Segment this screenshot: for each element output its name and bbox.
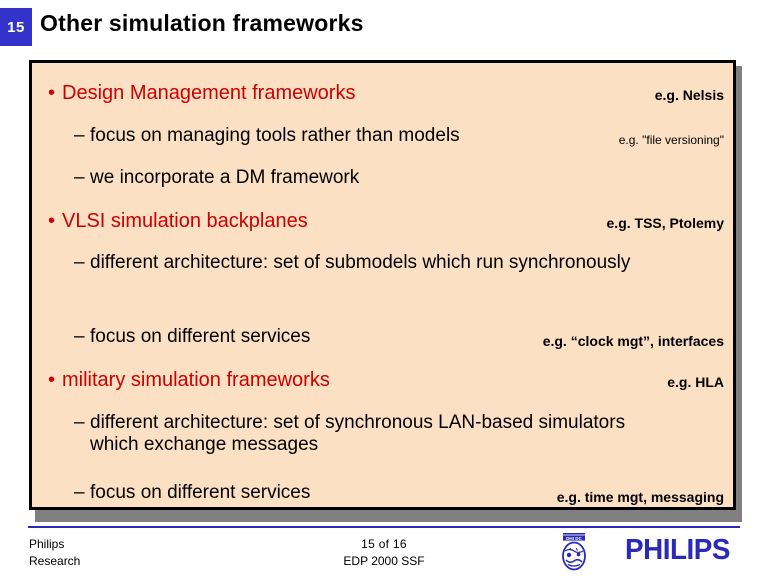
sub-item-label: focus on different services [90,482,494,504]
dash-glyph-icon: – [74,125,85,147]
slide-number-badge: 15 [0,8,32,46]
sub-item-label: different architecture: set of synchrono… [90,412,664,457]
annotation-clock-mgt-interfaces: e.g. “clock mgt”, interfaces [543,333,724,349]
sub-item-label: focus on different services [90,326,494,348]
philips-shield-icon: DHI DC [556,531,592,575]
page-title: Other simulation frameworks [40,10,364,37]
bullet-label: Design Management frameworks [62,82,355,104]
sub-item-dm-framework: – we incorporate a DM framework [74,167,584,189]
content-box: •Design Management frameworks e.g. Nelsi… [29,60,736,510]
annotation-time-mgt-messaging: e.g. time mgt, messaging [557,489,724,505]
bullet-dot-icon: • [48,210,62,232]
footer-shadow-bar [35,516,742,522]
annotation-nelsis: e.g. Nelsis [655,87,724,103]
dash-glyph-icon: – [74,252,85,274]
dash-glyph-icon: – [74,412,85,434]
philips-wordmark: PHILIPS [625,534,730,567]
bullet-item-design-management: •Design Management frameworks [48,82,355,104]
footer-divider [28,526,740,528]
annotation-hla: e.g. HLA [667,374,724,390]
sub-item-focus-services-military: – focus on different services [74,482,494,504]
annotation-tss-ptolemy: e.g. TSS, Ptolemy [607,215,724,231]
bullet-dot-icon: • [48,369,62,391]
sub-item-label: different architecture: set of submodels… [90,252,634,274]
bullet-label: military simulation frameworks [62,369,330,391]
dash-glyph-icon: – [74,167,85,189]
svg-text:DHI DC: DHI DC [566,536,583,541]
annotation-file-versioning: e.g. "file versioning" [619,133,724,147]
slide-title-bar: 15 Other simulation frameworks [0,8,768,46]
dash-glyph-icon: – [74,326,85,348]
bullet-item-vlsi-backplanes: •VLSI simulation backplanes [48,210,308,232]
sub-item-focus-services-vlsi: – focus on different services [74,326,494,348]
bullet-item-military-frameworks: •military simulation frameworks [48,369,330,391]
sub-item-label: we incorporate a DM framework [90,167,584,189]
sub-item-focus-managing-tools: – focus on managing tools rather than mo… [74,125,584,147]
sub-item-lan-based-simulators: – different architecture: set of synchro… [74,412,664,457]
sub-item-label: focus on managing tools rather than mode… [90,125,584,147]
bullet-dot-icon: • [48,82,62,104]
sub-item-different-architecture-submodels: – different architecture: set of submode… [74,252,634,274]
bullet-label: VLSI simulation backplanes [62,210,308,232]
dash-glyph-icon: – [74,482,85,504]
